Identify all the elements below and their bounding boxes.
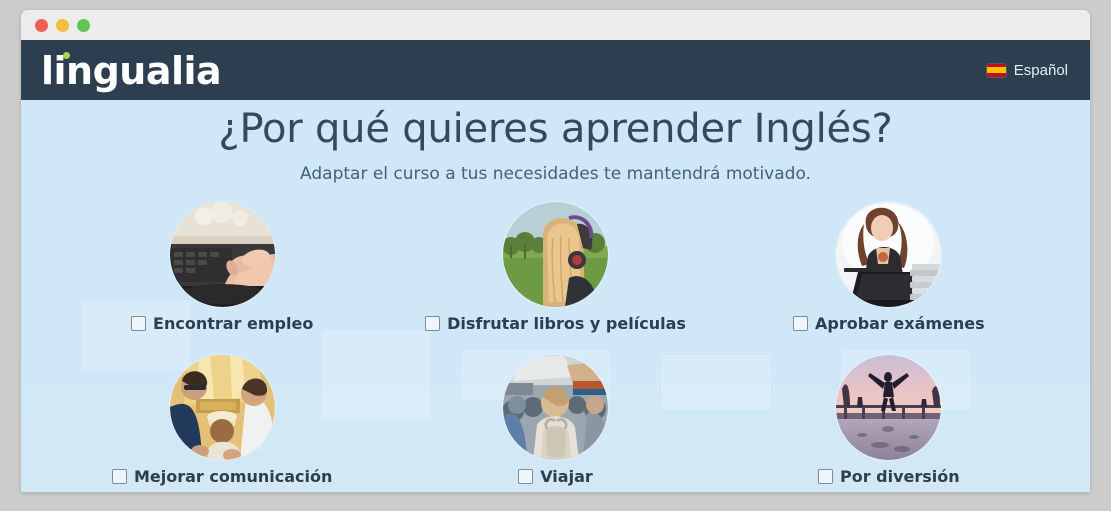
page-content: ¿Por qué quieres aprender Inglés? Adapta… [21, 100, 1090, 492]
woman-with-headphones-in-park-image [503, 202, 608, 307]
option-viajar[interactable]: Viajar [389, 355, 722, 486]
option-label-row: Viajar [518, 467, 593, 486]
option-encontrar-empleo[interactable]: Encontrar empleo [56, 202, 389, 333]
option-por-diversion[interactable]: Por diversión [722, 355, 1055, 486]
option-aprobar-examenes[interactable]: Aprobar exámenes [722, 202, 1055, 333]
checkbox-encontrar-empleo[interactable] [131, 316, 146, 331]
options-grid: Encontrar empleo [56, 202, 1056, 486]
option-label: Mejorar comunicación [134, 467, 332, 486]
option-label-row: Mejorar comunicación [112, 467, 332, 486]
option-label-row: Encontrar empleo [131, 314, 313, 333]
close-window-button[interactable] [35, 19, 48, 32]
person-jumping-at-sunset-over-water-image [836, 355, 941, 460]
option-label: Disfrutar libros y películas [447, 314, 686, 333]
option-label: Encontrar empleo [153, 314, 313, 333]
checkbox-disfrutar-libros[interactable] [425, 316, 440, 331]
option-disfrutar-libros[interactable]: Disfrutar libros y películas [389, 202, 722, 333]
minimize-window-button[interactable] [56, 19, 69, 32]
option-label: Por diversión [840, 467, 960, 486]
option-mejorar-comunicacion[interactable]: Mejorar comunicación [56, 355, 389, 486]
option-label-row: Por diversión [818, 467, 960, 486]
page-subtitle: Adaptar el curso a tus necesidades te ma… [21, 164, 1090, 184]
checkbox-aprobar-examenes[interactable] [793, 316, 808, 331]
traffic-light-buttons [35, 19, 90, 32]
woman-studying-with-laptop-and-books-image [836, 202, 941, 307]
page-title: ¿Por qué quieres aprender Inglés? [21, 100, 1090, 152]
logo-accent-dot-icon [63, 52, 70, 59]
checkbox-viajar[interactable] [518, 469, 533, 484]
window-titlebar [21, 10, 1090, 40]
checkbox-por-diversion[interactable] [818, 469, 833, 484]
spain-flag-icon [987, 64, 1006, 77]
backpacker-in-crowded-market-image [503, 355, 608, 460]
lingualia-logo[interactable]: lingualia [41, 50, 221, 90]
checkbox-mejorar-comunicacion[interactable] [112, 469, 127, 484]
option-label: Viajar [540, 467, 593, 486]
option-label: Aprobar exámenes [815, 314, 985, 333]
hands-typing-on-keyboard-image [170, 202, 275, 307]
browser-window: lingualia Español ¿Por qué quieres apren… [21, 10, 1090, 492]
language-label: Español [1014, 62, 1068, 79]
option-label-row: Disfrutar libros y películas [425, 314, 686, 333]
option-label-row: Aprobar exámenes [793, 314, 985, 333]
maximize-window-button[interactable] [77, 19, 90, 32]
site-header: lingualia Español [21, 40, 1090, 100]
people-talking-outdoors-image [170, 355, 275, 460]
language-selector[interactable]: Español [987, 62, 1068, 79]
